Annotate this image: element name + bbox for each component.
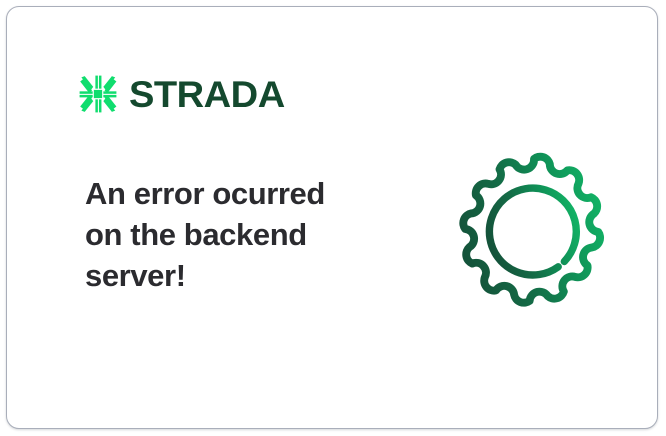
brand-lockup: STRADA [79,75,280,113]
strada-asterisk-icon [79,75,117,113]
error-message: An error ocurred on the backend server! [85,173,385,296]
brand-wordmark: STRADA [129,76,285,113]
error-message-line-3: server! [85,255,385,296]
error-message-line-1: An error ocurred [85,173,385,214]
error-screen: STRADA An error ocurred on the backend s… [0,0,666,436]
gear-cog-icon [455,151,613,309]
error-message-line-2: on the backend [85,214,385,255]
error-card: STRADA An error ocurred on the backend s… [6,6,658,429]
